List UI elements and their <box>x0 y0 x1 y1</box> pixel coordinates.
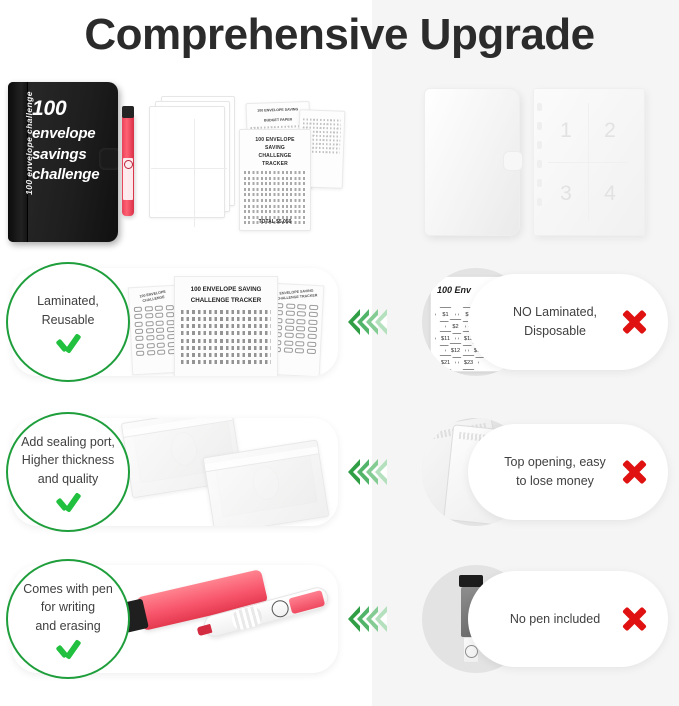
red-marker-pen <box>122 114 134 216</box>
bad-label-3: No pen included <box>468 610 618 629</box>
envelope-divider-horizontal <box>151 168 227 169</box>
binder-holes <box>537 103 542 221</box>
chevron-left-icon <box>375 459 387 485</box>
chevron-arrows-1 <box>348 309 414 335</box>
row-1-sheet-heading-2: CHALLENGE TRACKER <box>181 296 271 306</box>
binder-clasp <box>99 148 118 170</box>
hero-product-strip: 100 envelope challenge 100 envelope savi… <box>0 72 679 247</box>
pocket-number-4: 4 <box>588 162 632 225</box>
cross-icon <box>618 604 652 634</box>
bad-card-3: No pen included <box>468 571 668 667</box>
chevron-arrows-2 <box>348 459 414 485</box>
chevron-left-icon <box>375 309 387 335</box>
pen-cap <box>122 106 134 118</box>
binder-cover-text: 100 envelope savings challenge <box>32 95 114 186</box>
good-badge-2: Add sealing port, Higher thickness and q… <box>6 412 130 532</box>
white-binder-clasp <box>503 151 523 171</box>
pocket-number-2: 2 <box>588 99 632 162</box>
tracker-main-total: TOTAL $5,050 <box>240 219 310 225</box>
good-badge-3: Comes with pen for writing and erasing <box>6 559 130 679</box>
row-1-sheet-right-heading: ENVELOPE SAVING CHALLENGE TRACKER <box>274 288 319 303</box>
check-icon <box>53 493 83 511</box>
row-2-cash-envelope-image <box>112 418 338 526</box>
tracker-main-rows <box>244 171 306 224</box>
white-binder-faded <box>424 88 520 236</box>
marker-color-band <box>288 590 325 614</box>
pocket-grid: 1 2 3 4 <box>544 99 632 225</box>
comparison-row-3: Comes with pen for writing and erasing N… <box>0 559 679 679</box>
infographic-page: Comprehensive Upgrade 100 envelope chall… <box>0 0 679 706</box>
row-1-sheet-left-dots <box>134 305 177 356</box>
bad-label-1: NO Laminated, Disposable <box>468 303 618 341</box>
numbered-pocket-pages: 1 2 3 4 <box>533 88 645 236</box>
binder-cover-line-1: 100 <box>32 95 114 124</box>
envelope-sheet-front <box>149 106 225 218</box>
tracker-back-1-heading-2: BUDGET PAPER <box>251 117 305 124</box>
row-1-sheet-left-heading: 100 ENVELOPE CHALLENGE <box>133 288 174 306</box>
good-label-2: Add sealing port, Higher thickness and q… <box>12 433 124 487</box>
check-icon <box>53 334 83 352</box>
tracker-back-1-heading-1: 100 ENVELOPE SAVING <box>251 107 305 114</box>
page-title: Comprehensive Upgrade <box>0 10 679 60</box>
pen-ring-icon <box>124 160 133 169</box>
binder-spine: 100 envelope challenge <box>8 82 28 242</box>
marker-nib <box>197 624 213 636</box>
tracker-main-heading-1: 100 ENVELOPE SAVING <box>245 137 305 152</box>
comparison-row-2: Add sealing port, Higher thickness and q… <box>0 412 679 532</box>
cross-icon <box>618 307 652 337</box>
chevron-arrows-3 <box>348 606 414 632</box>
chevron-left-icon <box>375 606 387 632</box>
good-badge-1: Laminated, Reusable <box>6 262 130 382</box>
bad-card-2: Top opening, easy to lose money <box>468 424 668 520</box>
comparison-row-1: 100 ENVELOPE CHALLENGE 100 ENVELOPE SAVI… <box>0 262 679 382</box>
bad-card-1: NO Laminated, Disposable <box>468 274 668 370</box>
row-3-pen-image <box>120 565 338 673</box>
pocket-number-3: 3 <box>544 162 588 225</box>
row-1-sheet-heading-1: 100 ENVELOPE SAVING <box>181 285 271 295</box>
binder-cover-line-2: envelope <box>32 124 114 145</box>
tracker-sheet-main: 100 ENVELOPE SAVING CHALLENGE TRACKER TO… <box>239 129 311 231</box>
row-1-sheet-main: 100 ENVELOPE SAVING CHALLENGE TRACKER <box>174 276 278 376</box>
row-1-tracker-images: 100 ENVELOPE CHALLENGE 100 ENVELOPE SAVI… <box>116 270 336 376</box>
cross-icon <box>618 457 652 487</box>
tracker-main-heading-2: CHALLENGE TRACKER <box>245 153 305 168</box>
black-binder: 100 envelope challenge 100 envelope savi… <box>8 82 118 242</box>
check-icon <box>53 640 83 658</box>
row-1-sheet-right-dots <box>272 303 319 355</box>
marker-logo-icon <box>270 598 291 619</box>
row-1-sheet-lines <box>181 310 271 364</box>
marker-grip <box>230 605 264 632</box>
good-label-1: Laminated, Reusable <box>28 292 108 328</box>
bad-label-2: Top opening, easy to lose money <box>468 453 618 491</box>
gray-pen-cap <box>459 575 483 587</box>
envelope-stack <box>143 96 239 226</box>
pocket-number-1: 1 <box>544 99 588 162</box>
good-label-3: Comes with pen for writing and erasing <box>14 580 122 634</box>
envelope-divider-vertical <box>194 119 195 227</box>
